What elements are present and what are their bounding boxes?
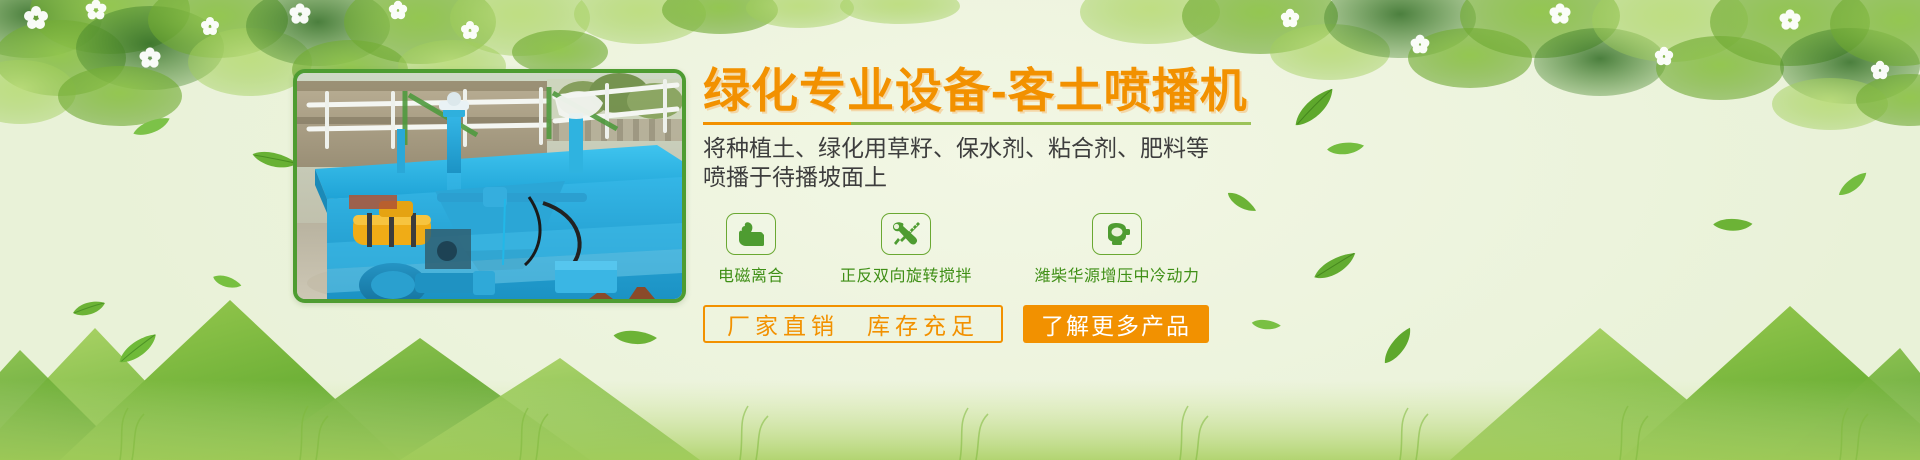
cta-row: 厂家直销 库存充足 了解更多产品 [703, 305, 1863, 343]
floating-leaf-icon [247, 141, 299, 184]
floating-leaf-icon [609, 322, 659, 359]
engine-power-icon [1092, 213, 1142, 255]
subtitle-line-1: 将种植土、绿化用草籽、保水剂、粘合剂、肥料等 [703, 134, 1863, 163]
promo-banner: 绿化专业设备-客土喷播机 将种植土、绿化用草籽、保水剂、粘合剂、肥料等 喷播于待… [0, 0, 1920, 460]
feature-list: 电磁离合 正反双向旋转搅拌 [703, 213, 1863, 286]
thumbs-up-icon [726, 213, 776, 255]
floating-leaf-icon [207, 267, 244, 301]
feature-item: 正反双向旋转搅拌 [818, 213, 994, 286]
status-badge: 厂家直销 库存充足 [703, 305, 1003, 343]
feature-label: 电磁离合 [703, 262, 799, 286]
learn-more-button[interactable]: 了解更多产品 [1023, 305, 1209, 343]
floating-leaf-icon [113, 330, 166, 372]
floating-leaf-icon [131, 115, 174, 143]
feature-label: 正反双向旋转搅拌 [818, 262, 994, 286]
feature-label: 潍柴华源增压中冷动力 [1013, 262, 1221, 286]
feature-item: 潍柴华源增压中冷动力 [1013, 213, 1221, 286]
banner-content: 绿化专业设备-客土喷播机 将种植土、绿化用草籽、保水剂、粘合剂、肥料等 喷播于待… [703, 66, 1863, 343]
wrench-screwdriver-icon [881, 213, 931, 255]
floating-leaf-icon [72, 300, 106, 323]
title-divider [703, 122, 1251, 125]
feature-item: 电磁离合 [703, 213, 799, 286]
product-photo [293, 69, 686, 303]
page-title: 绿化专业设备-客土喷播机 [703, 66, 1863, 116]
subtitle-line-2: 喷播于待播坡面上 [703, 163, 1863, 192]
